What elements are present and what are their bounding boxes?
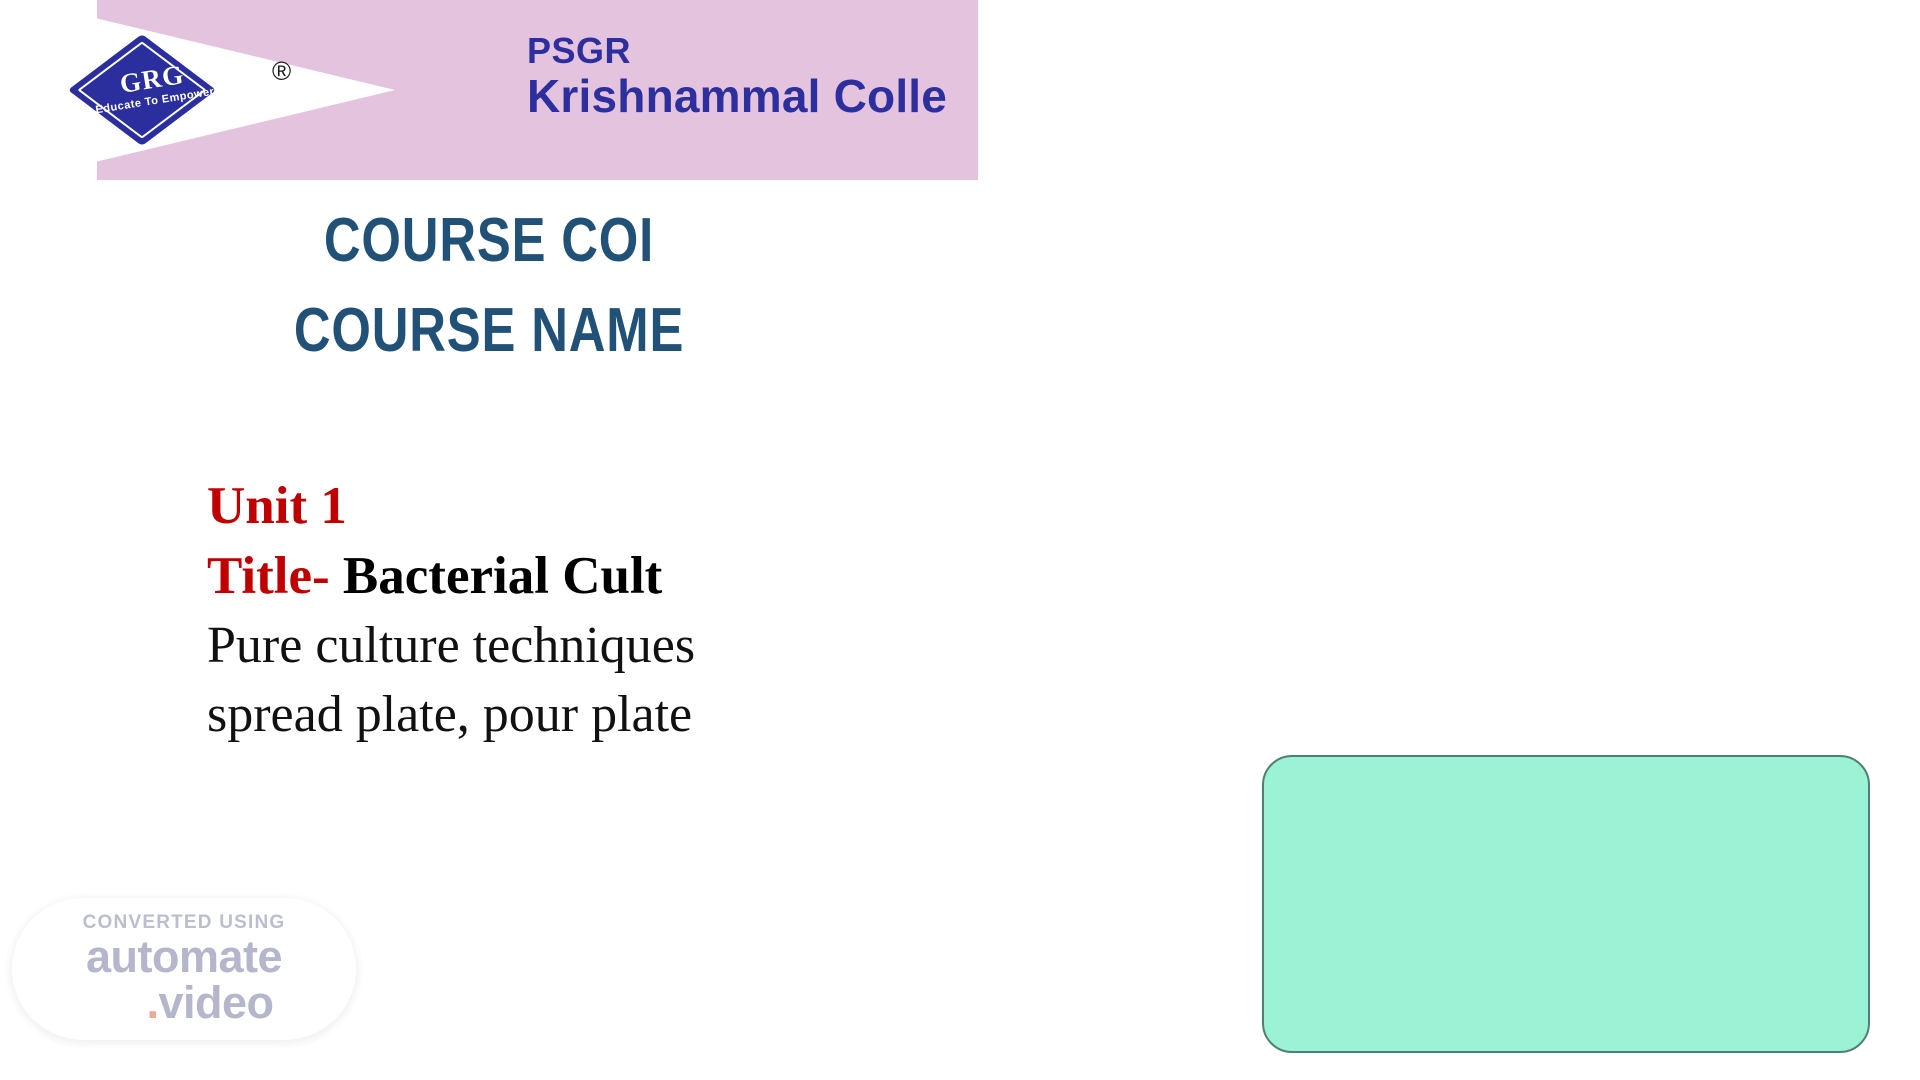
college-header-banner: PSGR Krishnammal Colle	[97, 0, 978, 180]
registered-trademark-icon: ®	[272, 58, 291, 84]
watermark-top-label: CONVERTED USING	[83, 913, 286, 932]
title-line: Title- Bacterial Cult	[207, 542, 978, 612]
banner-line-psgr: PSGR	[527, 30, 947, 71]
content-placeholder-box[interactable]	[1262, 755, 1870, 1053]
title-label: Title-	[207, 547, 330, 605]
body-paragraph-line-1: Pure culture techniques	[207, 612, 978, 681]
course-name-heading: COURSE NAME	[88, 286, 890, 376]
slide-body-text: Unit 1 Title- Bacterial Cult Pure cultur…	[207, 472, 978, 749]
college-name-block: PSGR Krishnammal Colle	[527, 30, 947, 123]
unit-label: Unit 1	[207, 477, 347, 535]
grg-logo: GRG Educate To Empower	[78, 38, 226, 138]
automate-video-watermark: CONVERTED USING automate .video	[12, 898, 356, 1040]
course-heading-block: COURSE COI COURSE NAME	[0, 196, 978, 376]
watermark-dot: .	[146, 977, 158, 1028]
watermark-suffix-text: video	[158, 977, 273, 1028]
title-value: Bacterial Cult	[343, 547, 662, 605]
watermark-suffix: .video	[146, 980, 273, 1026]
banner-line-college: Krishnammal Colle	[527, 71, 947, 123]
watermark-brand-text: automate	[86, 934, 282, 980]
unit-line: Unit 1	[207, 472, 978, 542]
body-paragraph-line-2: spread plate, pour plate	[207, 681, 978, 750]
course-code-heading: COURSE COI	[88, 196, 890, 286]
